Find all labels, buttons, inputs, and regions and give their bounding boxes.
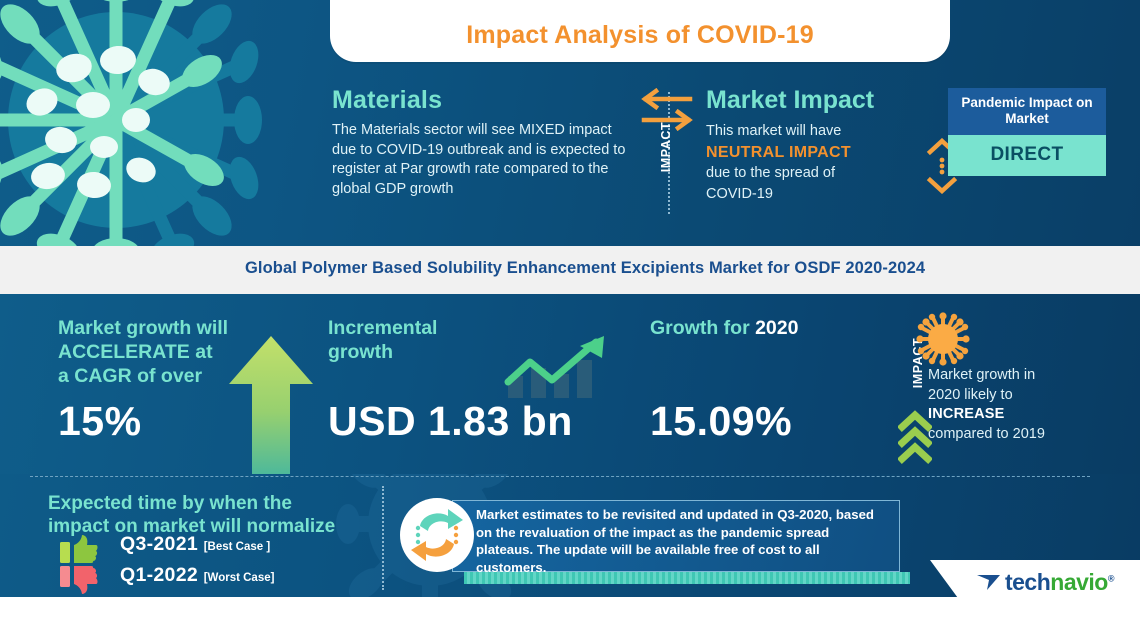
virus-icon — [0, 0, 266, 246]
impact-right-line3: compared to 2019 — [928, 425, 1128, 445]
pandemic-impact-box: Pandemic Impact on Market DIRECT — [948, 88, 1106, 176]
materials-heading: Materials — [332, 86, 632, 115]
market-impact-line3: COVID-19 — [706, 184, 926, 205]
market-impact-line1: This market will have — [706, 121, 926, 142]
technavio-logo: technavio® — [976, 568, 1114, 596]
worst-case-note: [Worst Case] — [204, 572, 275, 584]
logo-text-navio: navio — [1050, 569, 1108, 595]
stat-incremental-label-1: Incremental — [328, 316, 528, 340]
market-impact-line2: due to the spread of — [706, 163, 926, 184]
best-case-row: Q3-2021 [Best Case ] — [120, 533, 270, 556]
title-banner: Impact Analysis of COVID-19 — [330, 0, 950, 62]
technavio-arrow-icon — [976, 570, 1002, 594]
stat-incremental-value: USD 1.83 bn — [328, 398, 573, 445]
bottom-divider-dotted — [382, 486, 384, 590]
virus-orange-icon — [916, 312, 970, 366]
stat-growth-label: Growth for — [650, 317, 750, 339]
note-text: Market estimates to be revisited and upd… — [476, 506, 890, 576]
worst-case-value: Q1-2022 — [120, 564, 198, 586]
best-case-value: Q3-2021 — [120, 533, 198, 555]
impact-right-text: Market growth in 2020 likely to INCREASE… — [928, 366, 1128, 444]
thumbs-down-icon — [60, 565, 98, 595]
market-title-band: Global Polymer Based Solubility Enhancem… — [0, 246, 1140, 294]
top-section: Impact Analysis of COVID-19 Materials Th… — [0, 0, 1140, 246]
stat-incremental-label-2: growth — [328, 340, 528, 364]
market-impact-heading: Market Impact — [706, 86, 926, 115]
impact-label-vertical: IMPACT — [659, 105, 673, 189]
stat-growth-2020: Growth for 2020 15.09% — [650, 294, 880, 474]
logo-text-tech: tech — [1005, 569, 1050, 595]
thumbs-up-icon — [60, 534, 98, 564]
stat-growth-value: 15.09% — [650, 398, 792, 445]
impact-right-line2: 2020 likely to — [928, 386, 1128, 406]
worst-case-row: Q1-2022 [Worst Case] — [120, 564, 274, 587]
market-impact-highlight: NEUTRAL IMPACT — [706, 142, 926, 163]
pandemic-impact-value: DIRECT — [948, 135, 1106, 176]
up-arrow-icon — [228, 334, 314, 474]
materials-block: Materials The Materials sector will see … — [332, 86, 632, 199]
market-title: Global Polymer Based Solubility Enhancem… — [245, 259, 925, 278]
triple-chevron-up-icon — [898, 410, 932, 464]
best-case-note: [Best Case ] — [204, 541, 270, 553]
infographic-root: Impact Analysis of COVID-19 Materials Th… — [0, 0, 1140, 627]
impact-divider-column: IMPACT — [640, 88, 694, 218]
section-divider-dashed — [30, 476, 1090, 477]
stat-growth-year: 2020 — [755, 317, 798, 339]
logo-trademark: ® — [1108, 573, 1114, 583]
footer — [0, 597, 1140, 627]
impact-right-line1: Market growth in — [928, 366, 1128, 386]
impact-right-strong: INCREASE — [928, 406, 1005, 422]
refresh-cycle-icon — [398, 496, 476, 574]
materials-body: The Materials sector will see MIXED impa… — [332, 121, 632, 199]
growth-chart-icon — [500, 334, 610, 400]
market-impact-block: Market Impact This market will have NEUT… — [706, 86, 926, 205]
page-title: Impact Analysis of COVID-19 — [330, 21, 950, 50]
pandemic-impact-heading: Pandemic Impact on Market — [948, 88, 1106, 135]
normalize-heading: Expected time by when the impact on mark… — [48, 492, 393, 538]
normalize-heading-line1: Expected time by when the — [48, 492, 393, 515]
stat-cagr-value: 15% — [58, 398, 142, 445]
